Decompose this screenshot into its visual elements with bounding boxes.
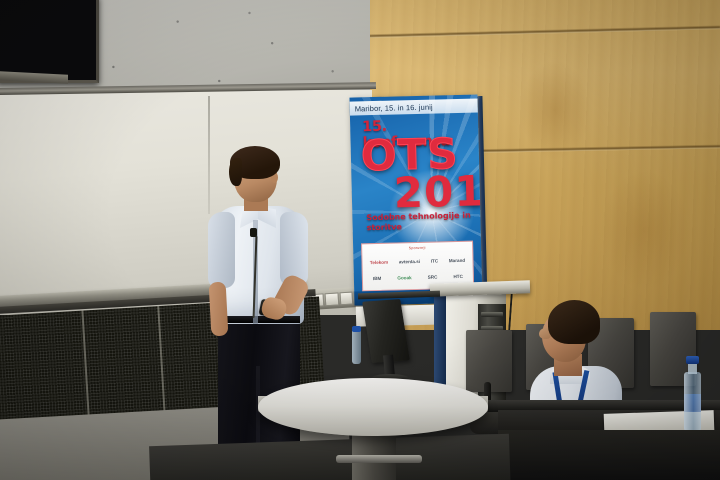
presenter-hair-side: [229, 158, 242, 186]
bottle-cap: [352, 326, 361, 332]
sponsor-logo: Telekom: [370, 259, 388, 264]
lecture-hall-photo: Maribor, 15. in 16. junij 15. konferenca…: [0, 0, 720, 480]
lapel-microphone-icon: [250, 228, 257, 237]
banner-year: 2010: [393, 170, 482, 215]
wood-grain-knot: [600, 170, 690, 290]
sponsor-logo: HTC: [453, 273, 463, 278]
desk-front-panel: [498, 430, 720, 480]
presenter-monitor: [365, 300, 421, 388]
sponsor-logo: Marand: [449, 257, 465, 262]
water-bottle: [352, 330, 361, 364]
presenter-left-forearm: [209, 282, 229, 337]
whiteboard: [0, 90, 372, 315]
sponsor-heading: Sponzorji: [364, 245, 470, 252]
presenter-left-arm: [208, 212, 235, 288]
projection-screen: [0, 0, 99, 83]
water-bottle: [684, 372, 701, 432]
round-table: [258, 378, 488, 436]
sponsor-logo: Gooak: [397, 275, 411, 280]
wood-grain-knot: [520, 60, 590, 160]
presenter: [196, 150, 316, 480]
conference-banner: Maribor, 15. in 16. junij 15. konferenca…: [349, 94, 482, 305]
bottle-cap: [686, 356, 699, 364]
banner-tagline: Sodobne tehnologije in storitve: [366, 211, 474, 233]
sponsor-logo: ITC: [431, 258, 439, 263]
attendee-hair: [548, 300, 600, 344]
outlet-socket: [339, 292, 353, 306]
sponsor-logo: SRC: [428, 274, 438, 279]
presenter-belt: [218, 316, 300, 323]
sponsor-logo: avtenta.si: [399, 258, 420, 264]
table-foot: [336, 455, 422, 463]
sponsor-logo: IBM: [373, 275, 382, 280]
outlet-socket: [325, 292, 339, 306]
monitor-panel: [362, 299, 410, 363]
banner-date-text: Maribor, 15. in 16. junij: [355, 102, 433, 113]
banner-date-bar: Maribor, 15. in 16. junij: [350, 98, 478, 115]
